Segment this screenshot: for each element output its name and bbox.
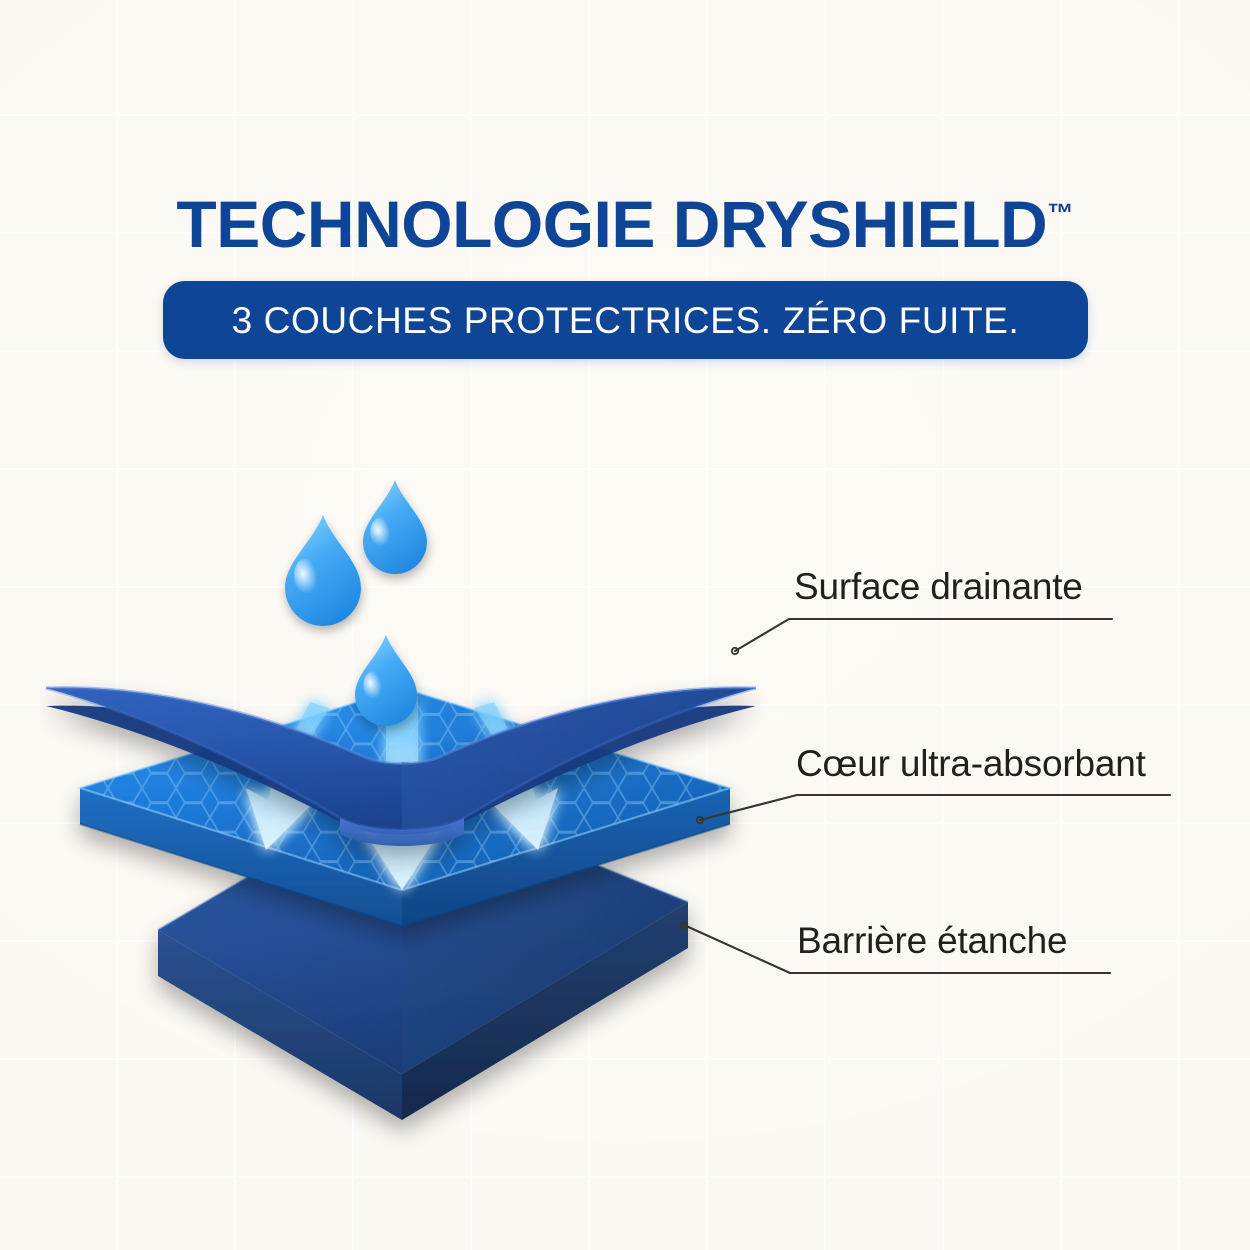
water-droplet [363, 480, 427, 574]
infographic-canvas: TECHNOLOGIE DRYSHIELD™ 3 COUCHES PROTECT… [0, 0, 1250, 1250]
subtitle-badge-label: 3 COUCHES PROTECTRICES. ZÉRO FUITE. [232, 302, 1020, 339]
water-droplet [285, 515, 361, 626]
callout-label-coeur-ultra-absorbant: Cœur ultra-absorbant [796, 743, 1146, 785]
page-title-main: TECHNOLOGIE DRYSHIELD [176, 187, 1047, 261]
layer-stack-illustration [40, 420, 800, 1160]
water-droplets [285, 480, 427, 726]
page-title: TECHNOLOGIE DRYSHIELD™ [0, 191, 1250, 257]
trademark-symbol: ™ [1047, 198, 1073, 228]
subtitle-badge: 3 COUCHES PROTECTRICES. ZÉRO FUITE. [163, 281, 1088, 359]
callout-label-barriere-etanche: Barrière étanche [797, 920, 1067, 962]
callout-label-surface-drainante: Surface drainante [794, 566, 1083, 608]
water-droplet [355, 635, 417, 726]
